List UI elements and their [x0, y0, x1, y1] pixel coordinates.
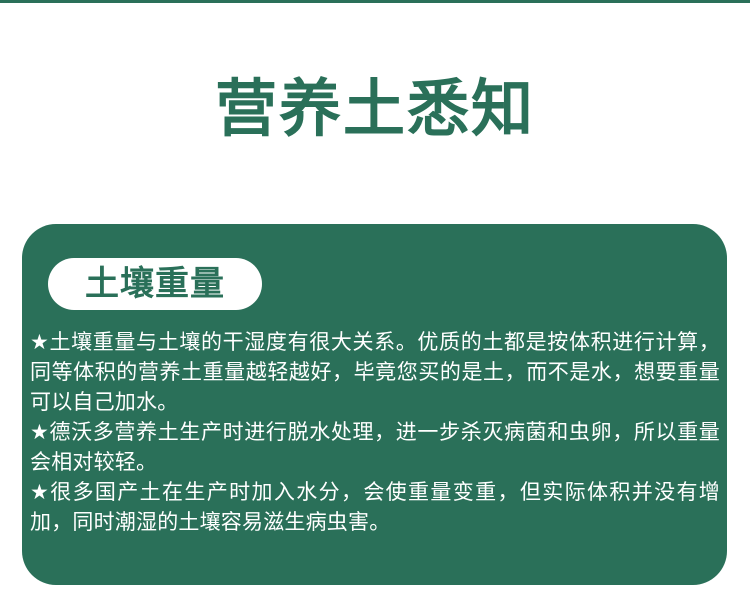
copy-paragraph: ★土壤重量与土壤的干湿度有很大关系。优质的土都是按体积进行计算，同等体积的营养土…	[30, 328, 720, 418]
star-bullet-icon: ★	[30, 481, 50, 504]
copy-paragraph-text: 土壤重量与土壤的干湿度有很大关系。优质的土都是按体积进行计算，同等体积的营养土重…	[30, 331, 720, 414]
page-root: 营养土悉知 土壤重量 ★土壤重量与土壤的干湿度有很大关系。优质的土都是按体积进行…	[0, 0, 750, 602]
star-bullet-icon: ★	[30, 421, 49, 444]
copy-paragraph: ★很多国产土在生产时加入水分，会使重量变重，但实际体积并没有增加，同时潮湿的土壤…	[30, 478, 720, 538]
section-badge-label: 土壤重量	[85, 267, 225, 301]
section-badge: 土壤重量	[48, 258, 262, 310]
panel-body-copy: ★土壤重量与土壤的干湿度有很大关系。优质的土都是按体积进行计算，同等体积的营养土…	[30, 328, 720, 538]
soil-weight-panel: 土壤重量 ★土壤重量与土壤的干湿度有很大关系。优质的土都是按体积进行计算，同等体…	[22, 224, 727, 585]
copy-paragraph-text: 德沃多营养土生产时进行脱水处理，进一步杀灭病菌和虫卵，所以重量会相对较轻。	[30, 421, 720, 474]
top-accent-rule	[0, 0, 750, 3]
copy-paragraph-text: 很多国产土在生产时加入水分，会使重量变重，但实际体积并没有增加，同时潮湿的土壤容…	[30, 481, 720, 534]
star-bullet-icon: ★	[30, 331, 49, 354]
page-title: 营养土悉知	[0, 72, 750, 148]
copy-paragraph: ★德沃多营养土生产时进行脱水处理，进一步杀灭病菌和虫卵，所以重量会相对较轻。	[30, 418, 720, 478]
